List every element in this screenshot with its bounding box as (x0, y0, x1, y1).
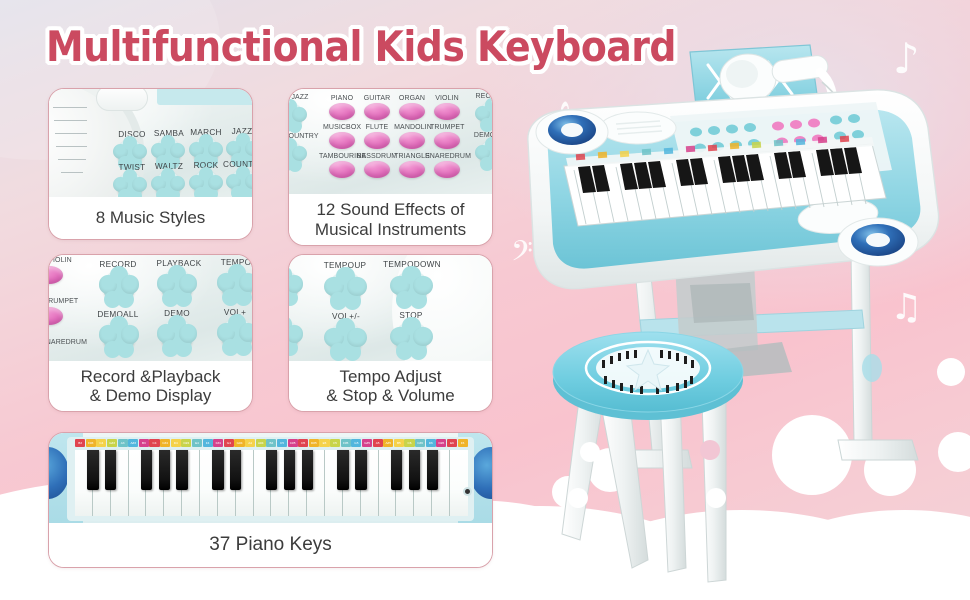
instrument-button-bassdrum[interactable] (364, 161, 390, 178)
note-chip: D4 (171, 439, 181, 447)
caption-line-2: & Demo Display (90, 386, 212, 405)
note-chip: D#6 (436, 439, 446, 447)
instrument-button-piano[interactable] (329, 103, 355, 120)
note-chip: G#3 (107, 439, 117, 447)
instrument-button-mandolin[interactable] (399, 132, 425, 149)
note-chip: C6 (404, 439, 414, 447)
note-chip: F5 (330, 439, 340, 447)
black-key[interactable] (284, 450, 295, 490)
note-chip: G#4 (234, 439, 244, 447)
note-chip: A#5 (383, 439, 393, 447)
note-chip: A4 (245, 439, 255, 447)
note-chip: B3 (139, 439, 149, 447)
control-button-volume-up[interactable] (221, 319, 252, 351)
edge-button-partial-bottom[interactable] (289, 321, 299, 351)
black-key[interactable] (302, 450, 313, 490)
note-chip: D#4 (181, 439, 191, 447)
control-button-record[interactable] (103, 271, 135, 303)
note-chip: D#5 (309, 439, 319, 447)
card-sound-effects-photo: JAZZ COUNTRY RECORD DEMOALL PIANO GUITAR… (289, 89, 492, 194)
keyboard-body (528, 90, 939, 289)
note-chip: C#6 (415, 439, 425, 447)
note-chip: F4 (203, 439, 213, 447)
card-record-playback-caption: Record &Playback & Demo Display (49, 361, 252, 411)
edge-button-partial-top[interactable] (289, 271, 299, 301)
instrument-button-organ[interactable] (399, 103, 425, 120)
control-button-demo[interactable] (161, 320, 193, 352)
stop-button[interactable] (395, 322, 428, 355)
keyboard-jack (465, 489, 470, 494)
card-music-styles[interactable]: DISCO SAMBA MARCH JAZZ TWIST WALTZ ROCK … (48, 88, 253, 240)
card-tempo-volume-photo: TEMPOUP TEMPODOWN VOL+/- STOP (289, 255, 492, 363)
note-chip: G#5 (362, 439, 372, 447)
note-chip: B3 (75, 439, 85, 447)
edge-button-country[interactable] (289, 142, 303, 168)
note-chip: F6 (458, 439, 468, 447)
style-button-waltz[interactable] (155, 172, 181, 198)
black-key[interactable] (391, 450, 402, 490)
note-chip: A#3 (128, 439, 138, 447)
button-label: MANDOLIN (394, 124, 432, 131)
button-label: FLUTE (362, 124, 392, 131)
edge-button-record[interactable] (479, 102, 492, 128)
note-chip: C#4 (160, 439, 170, 447)
style-button-rock[interactable] (193, 171, 219, 197)
caption-line-1: Record &Playback (81, 367, 221, 386)
instrument-button-trumpet[interactable] (434, 132, 460, 149)
black-key[interactable] (409, 450, 420, 490)
button-label: MUSICBOX (323, 124, 361, 131)
note-chip: E6 (447, 439, 457, 447)
card-sound-effects-caption: 12 Sound Effects of Musical Instruments (289, 194, 492, 245)
right-speaker (838, 218, 918, 266)
note-chip: F#4 (213, 439, 223, 447)
black-key[interactable] (105, 450, 116, 490)
note-chip: A5 (373, 439, 383, 447)
card-tempo-volume[interactable]: TEMPOUP TEMPODOWN VOL+/- STOP Tempo Adju… (288, 254, 493, 412)
style-button-twist[interactable] (117, 173, 143, 199)
note-chip: F#3 (86, 439, 96, 447)
instrument-button-musicbox[interactable] (329, 132, 355, 149)
instrument-button-snaredrum[interactable] (434, 161, 460, 178)
note-chip: E5 (319, 439, 329, 447)
note-chip: A#4 (256, 439, 266, 447)
edge-button-jazz[interactable] (289, 103, 303, 129)
card-piano-keys[interactable]: B3F#3C4G#3A3A#3B3C4C#4D4D#4E4F4F#4G4G#4A… (48, 432, 493, 568)
volume-button[interactable] (329, 323, 362, 356)
style-button-country[interactable] (230, 170, 252, 196)
left-speaker (536, 110, 608, 154)
control-button-tempo[interactable] (221, 269, 252, 301)
caption-line-2: & Stop & Volume (326, 386, 455, 405)
card-piano-keys-caption: 37 Piano Keys (49, 523, 492, 567)
note-chip: C#5 (288, 439, 298, 447)
note-chip: G4 (224, 439, 234, 447)
button-label: SNAREDRUM (425, 153, 469, 160)
tempo-button-down[interactable] (395, 271, 428, 304)
note-chip: B5 (394, 439, 404, 447)
black-key[interactable] (230, 450, 241, 490)
card-music-styles-photo: DISCO SAMBA MARCH JAZZ TWIST WALTZ ROCK … (49, 89, 252, 199)
button-label: VIOLIN (432, 95, 462, 102)
note-chip: C4 (96, 439, 106, 447)
product-photo (520, 20, 970, 600)
black-keys[interactable] (75, 450, 468, 490)
edge-label: TRUMPET (49, 298, 79, 305)
edge-button-demoall[interactable] (479, 141, 492, 167)
note-chip: B4 (266, 439, 276, 447)
button-label: TRUMPET (430, 124, 464, 131)
black-key[interactable] (159, 450, 170, 490)
black-key[interactable] (212, 450, 223, 490)
black-key[interactable] (427, 450, 438, 490)
note-chip: G5 (351, 439, 361, 447)
instrument-button-guitar[interactable] (364, 103, 390, 120)
note-chip: D5 (298, 439, 308, 447)
black-key[interactable] (176, 450, 187, 490)
note-chip: E4 (192, 439, 202, 447)
card-record-playback-photo: VIOLIN TRUMPET SNAREDRUM RECORD PLAYBACK… (49, 255, 252, 363)
instrument-button-violin[interactable] (434, 103, 460, 120)
black-key[interactable] (87, 450, 98, 490)
instrument-button-tambourine[interactable] (329, 161, 355, 178)
control-button-playback[interactable] (161, 270, 193, 302)
instrument-button-flute[interactable] (364, 132, 390, 149)
note-chip: C4 (149, 439, 159, 447)
button-label: PIANO (327, 95, 357, 102)
card-record-playback[interactable]: VIOLIN TRUMPET SNAREDRUM RECORD PLAYBACK… (48, 254, 253, 412)
note-chip: C5 (277, 439, 287, 447)
button-label: ORGAN (397, 95, 427, 102)
control-button-demoall[interactable] (103, 321, 135, 353)
instrument-button-triangle[interactable] (399, 161, 425, 178)
card-piano-keys-photo: B3F#3C4G#3A3A#3B3C4C#4D4D#4E4F4F#4G4G#4A… (49, 433, 492, 525)
black-key[interactable] (141, 450, 152, 490)
tempo-button-up[interactable] (329, 272, 362, 305)
note-chip: F#5 (341, 439, 351, 447)
black-key[interactable] (266, 450, 277, 490)
caption-line-1: 12 Sound Effects of (316, 200, 464, 219)
black-key[interactable] (337, 450, 348, 490)
note-label-strip: B3F#3C4G#3A3A#3B3C4C#4D4D#4E4F4F#4G4G#4A… (75, 439, 468, 447)
caption-line-2: Musical Instruments (315, 220, 466, 239)
caption-line-1: Tempo Adjust (339, 367, 441, 386)
note-chip: D6 (426, 439, 436, 447)
card-sound-effects[interactable]: JAZZ COUNTRY RECORD DEMOALL PIANO GUITAR… (288, 88, 493, 246)
card-tempo-volume-caption: Tempo Adjust & Stop & Volume (289, 361, 492, 411)
edge-label: SNAREDRUM (49, 339, 85, 346)
card-music-styles-caption: 8 Music Styles (49, 197, 252, 239)
note-chip: A3 (118, 439, 128, 447)
button-label: GUITAR (362, 95, 392, 102)
black-key[interactable] (355, 450, 366, 490)
edge-label: VIOLIN (49, 257, 75, 264)
